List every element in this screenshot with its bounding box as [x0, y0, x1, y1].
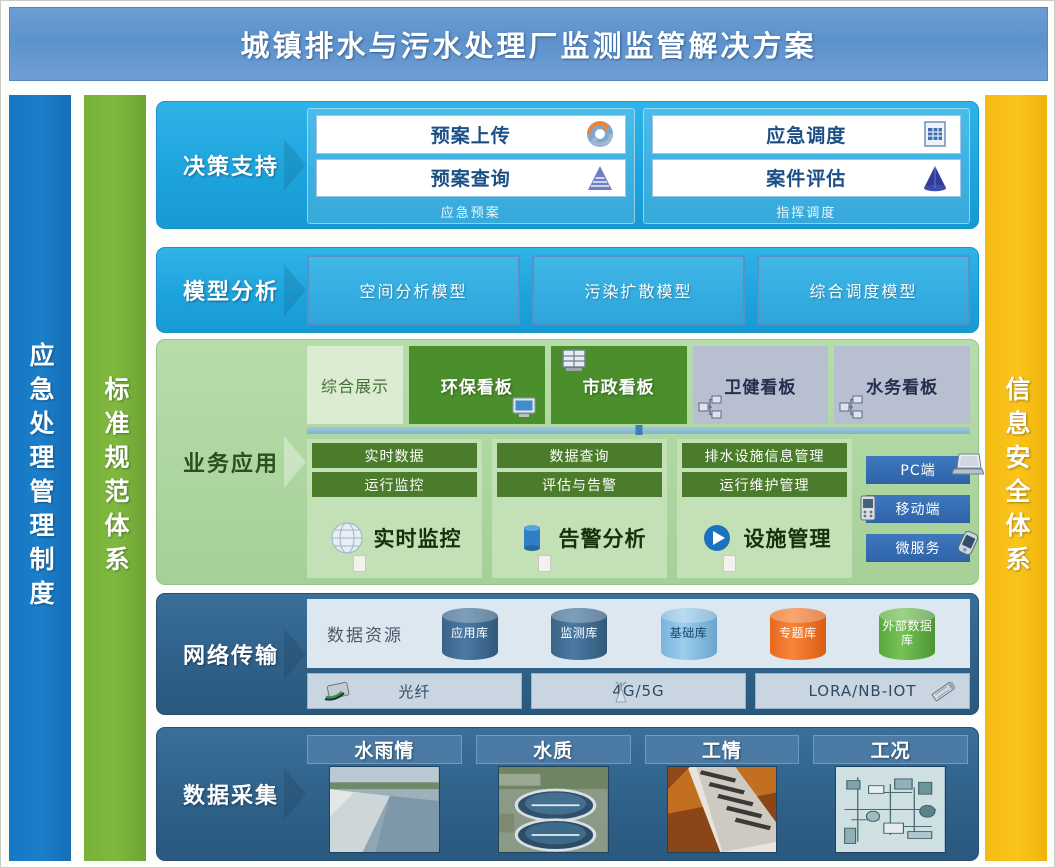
- data-resource-row: 数据资源 应用库 监测库 基础库 专题库 外部数据库: [307, 599, 970, 668]
- layer-data-collection: 数据采集 水雨情: [156, 727, 979, 861]
- database-thematic[interactable]: 专题库: [770, 608, 826, 660]
- transport-lora-nbiot[interactable]: LORA/NB-IOT: [755, 673, 970, 709]
- layer-model-analysis: 模型分析 空间分析模型 污染扩散模型 综合调度模型: [156, 247, 979, 333]
- layer-model-label: 模型分析: [183, 274, 279, 306]
- model-item-spatial-analysis[interactable]: 空间分析模型: [307, 255, 520, 325]
- solution-architecture-diagram: 城镇排水与污水处理厂监测监管解决方案 应急处理管理制度 标准规范体系 信息安全体…: [0, 0, 1055, 868]
- model-item-pollution-diffusion[interactable]: 污染扩散模型: [532, 255, 745, 325]
- decision-group-emergency-plan: 预案上传 预案查询 应急预案: [307, 108, 635, 224]
- business-feature-facility-management[interactable]: 设施管理: [682, 501, 847, 574]
- client-mobile[interactable]: 移动端: [866, 495, 970, 523]
- transport-lora-nbiot-label: LORA/NB-IOT: [808, 682, 916, 700]
- transport-4g5g[interactable]: 4G/5G: [531, 673, 746, 709]
- window-icon: [561, 348, 587, 374]
- monitor-icon: [511, 394, 537, 420]
- collect-card-project-status[interactable]: 工情: [645, 735, 800, 853]
- client-microservice[interactable]: 微服务: [866, 534, 970, 562]
- decision-item-plan-upload[interactable]: 预案上传: [316, 115, 626, 154]
- pipeline-trench-photo: [667, 766, 778, 853]
- business-feature-realtime-monitoring[interactable]: 实时监控: [312, 501, 477, 574]
- layer-decision-label-box: 决策支持: [157, 102, 305, 228]
- business-tag-data-query[interactable]: 数据查询: [497, 443, 662, 468]
- business-column-monitoring: 实时数据 运行监控 实时监控: [307, 439, 482, 578]
- decision-item-emergency-dispatch-label: 应急调度: [766, 121, 846, 148]
- business-columns: 实时数据 运行监控 实时监控 数据查询 评估与告警: [307, 439, 970, 578]
- transport-fiber[interactable]: 光纤: [307, 673, 522, 709]
- collect-card-water-rain-label: 水雨情: [307, 735, 462, 764]
- layer-collect-label-box: 数据采集: [157, 728, 305, 860]
- cylinder-icon: [513, 519, 551, 557]
- client-mobile-label: 移动端: [896, 499, 941, 519]
- antenna-tower-icon: [604, 678, 638, 704]
- database-monitoring-wrap: 监测库: [526, 608, 631, 660]
- dashboard-water-affairs-label: 水务看板: [866, 373, 938, 398]
- layer-decision-label: 决策支持: [183, 149, 279, 181]
- business-feature-alarm-analysis[interactable]: 告警分析: [497, 501, 662, 574]
- dashboard-environment-label: 环保看板: [441, 373, 513, 398]
- decision-item-emergency-dispatch[interactable]: 应急调度: [652, 115, 962, 154]
- layer-collect-body: 水雨情 水质: [305, 728, 978, 860]
- business-feature-facility-management-label: 设施管理: [744, 523, 832, 553]
- document-badge-icon: [538, 555, 551, 572]
- dashboard-environment[interactable]: 环保看板: [409, 346, 545, 424]
- transport-fiber-label: 光纤: [398, 681, 430, 702]
- layer-network-transmission: 网络传输 数据资源 应用库 监测库 基础库 专题库: [156, 593, 979, 715]
- pillar-standard-label: 标准规范体系: [97, 376, 133, 580]
- mobile-phone-icon: [852, 495, 884, 521]
- decision-group-command-dispatch: 应急调度 案件评估 指挥调度: [643, 108, 971, 224]
- dashboard-health[interactable]: 卫健看板: [693, 346, 829, 424]
- cone-icon: [920, 163, 950, 193]
- decision-item-plan-upload-label: 预案上传: [431, 121, 511, 148]
- layer-business-body: 综合展示 环保看板 市政看板 卫健看板: [305, 340, 978, 584]
- dashboard-row-label: 综合展示: [307, 346, 403, 424]
- decision-item-plan-query-label: 预案查询: [431, 164, 511, 191]
- pyramid-icon: [585, 163, 615, 193]
- layer-network-body: 数据资源 应用库 监测库 基础库 专题库 外部数据库: [305, 594, 978, 714]
- business-column-query-alarm: 数据查询 评估与告警 告警分析: [492, 439, 667, 578]
- collect-card-water-quality-label: 水质: [476, 735, 631, 764]
- data-resource-label: 数据资源: [317, 621, 413, 646]
- database-basic-wrap: 基础库: [636, 608, 741, 660]
- document-badge-icon: [353, 555, 366, 572]
- fiber-cable-icon: [322, 678, 356, 704]
- layer-decision-support: 决策支持 预案上传 预案查询: [156, 101, 979, 229]
- decision-item-plan-query[interactable]: 预案查询: [316, 159, 626, 198]
- layer-network-label-box: 网络传输: [157, 594, 305, 714]
- database-application[interactable]: 应用库: [442, 608, 498, 660]
- decision-item-case-evaluation[interactable]: 案件评估: [652, 159, 962, 198]
- collect-card-operating-condition-label: 工况: [813, 735, 968, 764]
- business-tag-evaluation-alarm[interactable]: 评估与告警: [497, 472, 662, 497]
- recycle-circle-icon: [585, 119, 615, 149]
- sensor-device-icon: [927, 678, 961, 704]
- page-title-bar: 城镇排水与污水处理厂监测监管解决方案: [9, 7, 1048, 81]
- database-thematic-wrap: 专题库: [745, 608, 850, 660]
- decision-item-case-evaluation-label: 案件评估: [766, 164, 846, 191]
- client-pc[interactable]: PC端: [866, 456, 970, 484]
- database-application-wrap: 应用库: [417, 608, 522, 660]
- layer-collect-label: 数据采集: [183, 778, 279, 810]
- decision-group-command-dispatch-caption: 指挥调度: [652, 202, 962, 221]
- decision-group-emergency-plan-caption: 应急预案: [316, 202, 626, 221]
- pillar-security-label: 信息安全体系: [998, 376, 1034, 580]
- collect-card-project-status-label: 工情: [645, 735, 800, 764]
- layer-business-application: 业务应用 综合展示 环保看板 市政看板: [156, 339, 979, 585]
- database-external-wrap: 外部数据库: [855, 608, 960, 660]
- smartphone-icon: [952, 530, 984, 556]
- pillar-emergency-management: 应急处理管理制度: [9, 95, 71, 861]
- sedimentation-tanks-photo: [498, 766, 609, 853]
- layer-business-label-box: 业务应用: [157, 340, 305, 584]
- client-pc-label: PC端: [900, 460, 935, 480]
- business-tag-realtime-data[interactable]: 实时数据: [312, 443, 477, 468]
- grid-table-icon: [920, 119, 950, 149]
- globe-icon: [328, 519, 366, 557]
- dashboard-divider: [307, 427, 970, 434]
- business-feature-realtime-monitoring-label: 实时监控: [374, 523, 462, 553]
- layer-decision-body: 预案上传 预案查询 应急预案 应急调度: [305, 102, 978, 228]
- network-node-icon: [697, 394, 723, 420]
- dashboard-water-affairs[interactable]: 水务看板: [834, 346, 970, 424]
- database-basic[interactable]: 基础库: [661, 608, 717, 660]
- layer-network-label: 网络传输: [183, 638, 279, 670]
- client-microservice-label: 微服务: [896, 538, 941, 558]
- scada-schematic-photo: [835, 766, 946, 853]
- pillar-information-security: 信息安全体系: [985, 95, 1047, 861]
- client-endpoints: PC端 移动端 微服务: [862, 439, 970, 578]
- play-circle-icon: [698, 519, 736, 557]
- business-tag-operation-monitoring[interactable]: 运行监控: [312, 472, 477, 497]
- business-column-facility: 排水设施信息管理 运行维护管理 设施管理: [677, 439, 852, 578]
- pillar-emergency-label: 应急处理管理制度: [22, 342, 58, 614]
- dashboard-municipal-label: 市政看板: [583, 373, 655, 398]
- dashboard-health-label: 卫健看板: [724, 373, 796, 398]
- business-tag-operation-maintenance[interactable]: 运行维护管理: [682, 472, 847, 497]
- layer-model-label-box: 模型分析: [157, 248, 305, 332]
- dashboard-row: 综合展示 环保看板 市政看板 卫健看板: [307, 346, 970, 424]
- layer-model-body: 空间分析模型 污染扩散模型 综合调度模型: [305, 248, 978, 332]
- business-feature-alarm-analysis-label: 告警分析: [559, 523, 647, 553]
- laptop-icon: [952, 452, 984, 478]
- collect-card-water-rain[interactable]: 水雨情: [307, 735, 462, 853]
- dashboard-municipal[interactable]: 市政看板: [551, 346, 687, 424]
- transport-row: 光纤 4G/5G LORA/NB-IOT: [307, 673, 970, 709]
- canal-river-photo: [329, 766, 440, 853]
- database-monitoring[interactable]: 监测库: [551, 608, 607, 660]
- network-node-icon: [838, 394, 864, 420]
- layer-business-label: 业务应用: [183, 446, 279, 478]
- document-badge-icon: [723, 555, 736, 572]
- collect-card-operating-condition[interactable]: 工况: [813, 735, 968, 853]
- database-external[interactable]: 外部数据库: [879, 608, 935, 660]
- pillar-standard-system: 标准规范体系: [84, 95, 146, 861]
- business-tag-drainage-facility-info[interactable]: 排水设施信息管理: [682, 443, 847, 468]
- model-item-integrated-dispatch[interactable]: 综合调度模型: [757, 255, 970, 325]
- page-title: 城镇排水与污水处理厂监测监管解决方案: [240, 23, 816, 65]
- collect-card-water-quality[interactable]: 水质: [476, 735, 631, 853]
